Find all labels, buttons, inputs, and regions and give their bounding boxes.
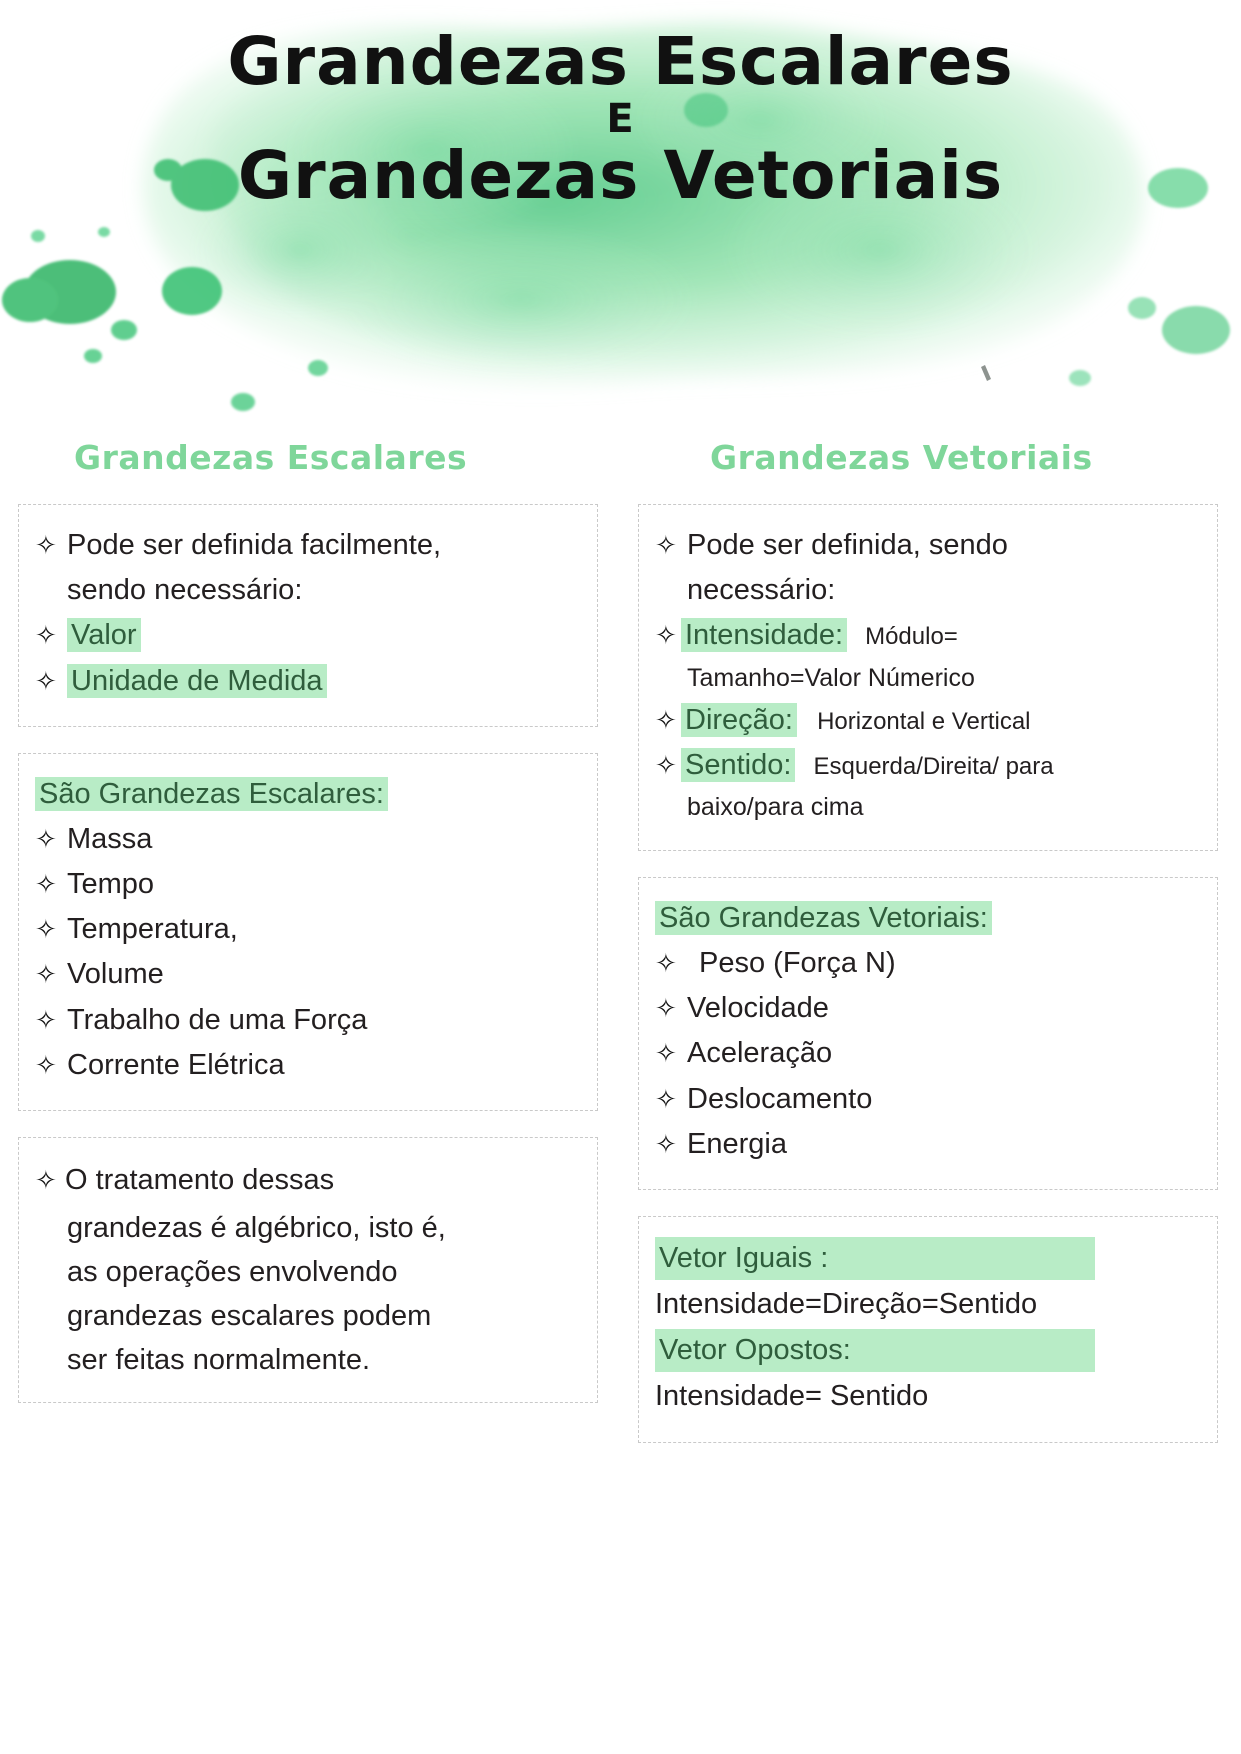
list-item-label: Direção: Horizontal e Vertical xyxy=(681,700,1199,741)
treatment-text: grandezas é algébrico, isto é, xyxy=(35,1206,579,1250)
list-item: ✧ Deslocamento xyxy=(655,1079,1199,1120)
treatment-text: grandezas escalares podem xyxy=(35,1294,579,1338)
treatment-text: O tratamento dessas xyxy=(65,1158,579,1202)
list-item: ✧ Volume xyxy=(35,954,579,995)
definition-continuation: sendo necessário: xyxy=(35,570,579,611)
escalares-examples-box: São Grandezas Escalares: ✧ Massa ✧ Tempo… xyxy=(18,753,598,1111)
content-columns: Grandezas Escalares ✧ Pode ser definida … xyxy=(0,438,1241,1469)
list-item: ✧ Valor xyxy=(35,615,579,656)
column-grandezas-vetoriais: Grandezas Vetoriais ✧ Pode ser definida,… xyxy=(638,438,1218,1469)
list-item-value: Horizontal e Vertical xyxy=(817,708,1030,735)
list-item: ✧ Energia xyxy=(655,1124,1199,1165)
hero-banner: Grandezas Escalares E Grandezas Vetoriai… xyxy=(0,0,1241,438)
treatment-text: as operações envolvendo xyxy=(35,1250,579,1294)
hero-title-line-3: Grandezas Vetoriais xyxy=(0,142,1241,209)
sparkle-bullet-icon: ✧ xyxy=(655,1035,687,1072)
list-item-label: Unidade de Medida xyxy=(67,661,579,702)
list-item: ✧ Pode ser definida facilmente, xyxy=(35,525,579,566)
list-item: ✧ Massa xyxy=(35,819,579,860)
vetor-iguais-label: Vetor Iguais : xyxy=(655,1237,1199,1280)
list-item: ✧ Tempo xyxy=(35,864,579,905)
definition-continuation: necessário: xyxy=(655,570,1199,611)
sparkle-bullet-icon: ✧ xyxy=(35,956,67,993)
vetor-opostos-value: Intensidade= Sentido xyxy=(655,1376,1199,1417)
list-item-label: Corrente Elétrica xyxy=(67,1045,579,1086)
sparkle-bullet-icon: ✧ xyxy=(655,527,687,564)
vetoriais-examples-title: São Grandezas Vetoriais: xyxy=(655,898,1199,939)
list-item-label: Pode ser definida, sendo xyxy=(687,525,1199,566)
list-item-label: Intensidade: Módulo= xyxy=(681,615,1199,656)
sparkle-bullet-icon: ✧ xyxy=(35,1047,67,1084)
sparkle-bullet-icon: ✧ xyxy=(35,911,67,948)
vetoriais-definition-box: ✧ Pode ser definida, sendo necessário: ✧… xyxy=(638,504,1218,851)
vetor-opostos-label: Vetor Opostos: xyxy=(655,1329,1199,1372)
escalares-definition-box: ✧ Pode ser definida facilmente, sendo ne… xyxy=(18,504,598,727)
vetoriais-examples-box: São Grandezas Vetoriais: ✧ Peso (Força N… xyxy=(638,877,1218,1190)
list-item-value-continuation: baixo/para cima xyxy=(655,790,1199,826)
list-item-label: Pode ser definida facilmente, xyxy=(67,525,579,566)
sparkle-bullet-icon: ✧ xyxy=(35,663,67,700)
list-item: ✧ Corrente Elétrica xyxy=(35,1045,579,1086)
escalares-examples-title: São Grandezas Escalares: xyxy=(35,774,579,815)
list-item-label: Deslocamento xyxy=(687,1079,1199,1120)
list-item: ✧ Intensidade: Módulo= xyxy=(655,615,1199,656)
list-item-value: Esquerda/Direita/ para xyxy=(813,753,1053,780)
sparkle-bullet-icon: ✧ xyxy=(655,1126,687,1163)
column-heading-escalares: Grandezas Escalares xyxy=(18,438,598,482)
sparkle-bullet-icon: ✧ xyxy=(655,617,681,654)
vetores-iguais-opostos-box: Vetor Iguais : Intensidade=Direção=Senti… xyxy=(638,1216,1218,1443)
column-grandezas-escalares: Grandezas Escalares ✧ Pode ser definida … xyxy=(18,438,598,1469)
sparkle-bullet-icon: ✧ xyxy=(655,1081,687,1118)
sparkle-bullet-icon: ✧ xyxy=(35,1162,65,1199)
list-item-label: Massa xyxy=(67,819,579,860)
list-item-label: Valor xyxy=(67,615,579,656)
sparkle-bullet-icon: ✧ xyxy=(35,821,67,858)
list-item-label: Temperatura, xyxy=(67,909,579,950)
list-item: ✧ Velocidade xyxy=(655,988,1199,1029)
list-item: ✧ Aceleração xyxy=(655,1033,1199,1074)
sparkle-bullet-icon: ✧ xyxy=(35,617,67,654)
sparkle-bullet-icon: ✧ xyxy=(35,1002,67,1039)
hero-title-line-1: Grandezas Escalares xyxy=(0,28,1241,95)
note-page: Grandezas Escalares E Grandezas Vetoriai… xyxy=(0,0,1241,1754)
treatment-text: ser feitas normalmente. xyxy=(35,1338,579,1382)
sparkle-bullet-icon: ✧ xyxy=(655,990,687,1027)
list-item-value: Módulo= xyxy=(865,623,958,650)
list-item: ✧ Direção: Horizontal e Vertical xyxy=(655,700,1199,741)
list-item-value-continuation: Tamanho=Valor Númerico xyxy=(655,661,1199,697)
list-item-label: Aceleração xyxy=(687,1033,1199,1074)
list-item-label: Trabalho de uma Força xyxy=(67,1000,579,1041)
list-item: ✧ Trabalho de uma Força xyxy=(35,1000,579,1041)
list-item-label: Peso (Força N) xyxy=(687,943,1199,984)
escalares-treatment-box: ✧ O tratamento dessas grandezas é algébr… xyxy=(18,1137,598,1403)
sparkle-bullet-icon: ✧ xyxy=(655,702,681,739)
list-item-label: Volume xyxy=(67,954,579,995)
hero-title: Grandezas Escalares E Grandezas Vetoriai… xyxy=(0,28,1241,209)
list-item: ✧ Pode ser definida, sendo xyxy=(655,525,1199,566)
treatment-paragraph-first-line: ✧ O tratamento dessas xyxy=(35,1158,579,1202)
list-item-label: Energia xyxy=(687,1124,1199,1165)
list-item-label: Tempo xyxy=(67,864,579,905)
list-item: ✧ Unidade de Medida xyxy=(35,661,579,702)
list-item-label: Velocidade xyxy=(687,988,1199,1029)
list-item: ✧ Temperatura, xyxy=(35,909,579,950)
sparkle-bullet-icon: ✧ xyxy=(35,866,67,903)
sparkle-bullet-icon: ✧ xyxy=(655,945,687,982)
sparkle-bullet-icon: ✧ xyxy=(35,527,67,564)
list-item-label: Sentido: Esquerda/Direita/ para xyxy=(681,745,1199,786)
sparkle-bullet-icon: ✧ xyxy=(655,747,681,784)
list-item: ✧ Sentido: Esquerda/Direita/ para xyxy=(655,745,1199,786)
column-heading-vetoriais: Grandezas Vetoriais xyxy=(638,438,1218,482)
hero-title-line-2: E xyxy=(0,99,1241,140)
list-item: ✧ Peso (Força N) xyxy=(655,943,1199,984)
vetor-iguais-value: Intensidade=Direção=Sentido xyxy=(655,1284,1199,1325)
